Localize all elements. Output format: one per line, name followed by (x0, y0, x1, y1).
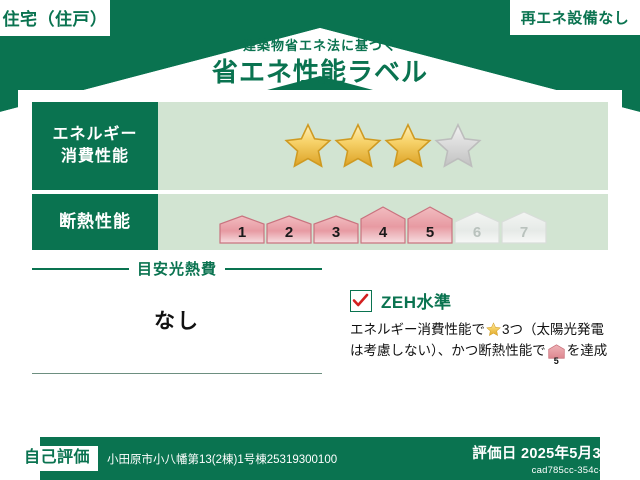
house-grade-number: 7 (501, 224, 547, 241)
house-grade-1: 1 (219, 215, 265, 244)
self-evaluation-badge: 自己評価 (16, 446, 98, 471)
house-grade-list: 1234567 (219, 200, 547, 244)
zeh-desc-part2: 3つ（太陽光発電 (502, 322, 604, 337)
utility-cost-heading-text: 目安光熱費 (137, 258, 217, 279)
property-address: 小田原市小八幡第13(2棟)1号棟25319300100 (107, 451, 337, 467)
house-grade-5: 5 (407, 206, 453, 244)
badge-renewable-energy-label: 再エネ設備なし (521, 7, 630, 28)
zeh-desc-part3: は考慮しない）、かつ断熱性能で (350, 343, 546, 358)
evaluation-code: cad785cc-354c-480d (472, 465, 624, 476)
evaluation-date-label: 評価日 (472, 446, 516, 462)
zeh-heading: ZEH水準 (350, 288, 612, 313)
heading-rule-left (32, 268, 129, 270)
evaluation-date: 評価日 2025年5月30日 (472, 446, 624, 462)
energy-performance-label: エネルギー 消費性能 (32, 102, 158, 190)
evaluation-date-value: 2025年5月30日 (521, 446, 624, 462)
zeh-title-text: ZEH水準 (381, 288, 452, 313)
energy-label-line1: エネルギー (52, 124, 137, 146)
insulation-grade-scale: 1234567 (158, 194, 608, 250)
check-icon (352, 292, 369, 309)
house-grade-7: 7 (501, 211, 547, 244)
star-list (284, 122, 482, 170)
house-grade-number: 2 (266, 224, 312, 241)
insulation-label-text: 断熱性能 (59, 211, 131, 234)
label-footer: 自己評価 小田原市小八幡第13(2棟)1号棟25319300100 評価日 20… (0, 437, 640, 480)
energy-label-line2: 消費性能 (61, 146, 129, 168)
zeh-block: ZEH水準 エネルギー消費性能で 3つ（太陽光発電 は考慮しない）、かつ断熱性能… (350, 288, 612, 366)
insulation-performance-label: 断熱性能 (32, 194, 158, 250)
zeh-desc-part4: を達成 (567, 343, 608, 358)
house-grade-number: 6 (454, 224, 500, 241)
zeh-description: エネルギー消費性能で 3つ（太陽光発電 は考慮しない）、かつ断熱性能で (350, 320, 612, 366)
label-subtitle: 建築物省エネ法に基づく (0, 38, 640, 54)
star-icon-filled (384, 122, 432, 170)
house-icon-inline-number: 5 (548, 357, 565, 366)
zeh-desc-part1: エネルギー消費性能で (350, 322, 485, 337)
badge-building-type-label: 住宅（住戸） (3, 5, 108, 30)
house-grade-number: 5 (407, 224, 453, 241)
star-icon-filled (284, 122, 332, 170)
energy-star-rating (158, 102, 608, 190)
star-icon-filled (334, 122, 382, 170)
label-title: 建築物省エネ法に基づく 省エネ性能ラベル (0, 38, 640, 86)
star-icon-empty (434, 122, 482, 170)
label-main-title: 省エネ性能ラベル (0, 58, 640, 87)
house-grade-4: 4 (360, 206, 406, 244)
zeh-checkbox[interactable] (350, 290, 372, 312)
star-icon-inline (486, 322, 501, 337)
insulation-performance-row: 断熱性能 1234567 (32, 194, 608, 250)
house-grade-3: 3 (313, 215, 359, 244)
house-grade-2: 2 (266, 215, 312, 244)
heading-rule-right (225, 268, 322, 270)
energy-performance-row: エネルギー 消費性能 (32, 102, 608, 190)
label-card: エネルギー 消費性能 断熱性能 1234567 目安光熱費 なし (18, 90, 622, 437)
house-grade-number: 1 (219, 224, 265, 241)
footer-right: 評価日 2025年5月30日 cad785cc-354c-480d (472, 442, 624, 476)
utility-cost-block: 目安光熱費 なし (32, 258, 322, 335)
house-grade-number: 3 (313, 224, 359, 241)
badge-renewable-energy: 再エネ設備なし (510, 0, 640, 35)
badge-building-type: 住宅（住戸） (0, 0, 110, 36)
house-grade-6: 6 (454, 211, 500, 244)
house-grade-number: 4 (360, 224, 406, 241)
utility-cost-heading: 目安光熱費 (32, 258, 322, 279)
utility-cost-bottom-rule (32, 373, 322, 374)
utility-cost-value: なし (32, 305, 322, 335)
house-icon-inline: 5 (548, 344, 565, 366)
energy-performance-label: 住宅（住戸） 再エネ設備なし 建築物省エネ法に基づく 省エネ性能ラベル エネルギ… (0, 0, 640, 480)
